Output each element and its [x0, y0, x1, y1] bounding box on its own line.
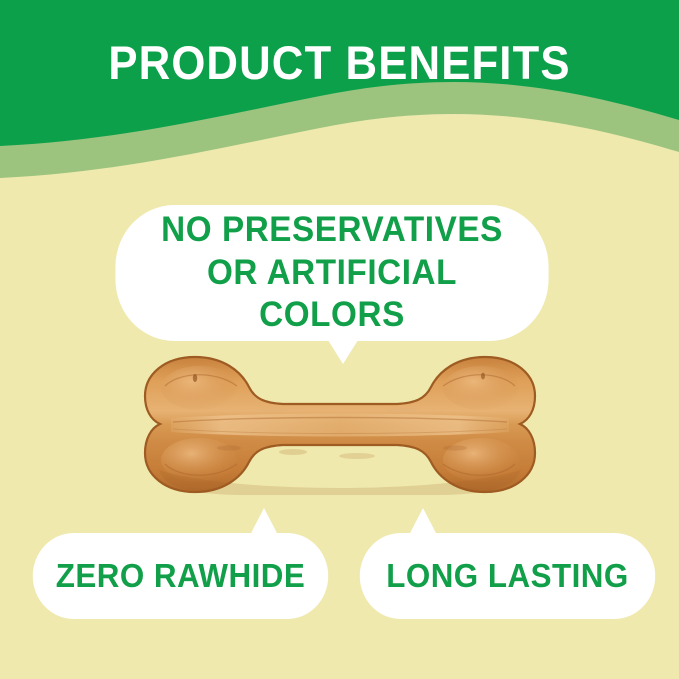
- product-benefits-infographic: PRODUCT BENEFITS NO PRESERVATIVES OR ART…: [0, 0, 679, 679]
- benefit-right-label: LONG LASTING: [386, 557, 629, 595]
- page-title: PRODUCT BENEFITS: [24, 38, 655, 87]
- benefit-bubble-zero-rawhide: ZERO RAWHIDE: [33, 533, 328, 619]
- page-title-text: PRODUCT BENEFITS: [108, 36, 570, 89]
- benefit-bubble-main-text: NO PRESERVATIVES OR ARTIFICIAL COLORS: [115, 209, 548, 337]
- benefit-bubble-main: NO PRESERVATIVES OR ARTIFICIAL COLORS: [115, 205, 548, 341]
- header-wave-banner: [0, 0, 679, 210]
- product-image-dog-bone: [143, 352, 537, 497]
- benefit-main-line1: NO PRESERVATIVES: [161, 210, 503, 249]
- benefit-main-line2: OR ARTIFICIAL COLORS: [207, 253, 457, 335]
- benefit-bubble-long-lasting: LONG LASTING: [360, 533, 655, 619]
- benefit-left-label: ZERO RAWHIDE: [56, 557, 306, 595]
